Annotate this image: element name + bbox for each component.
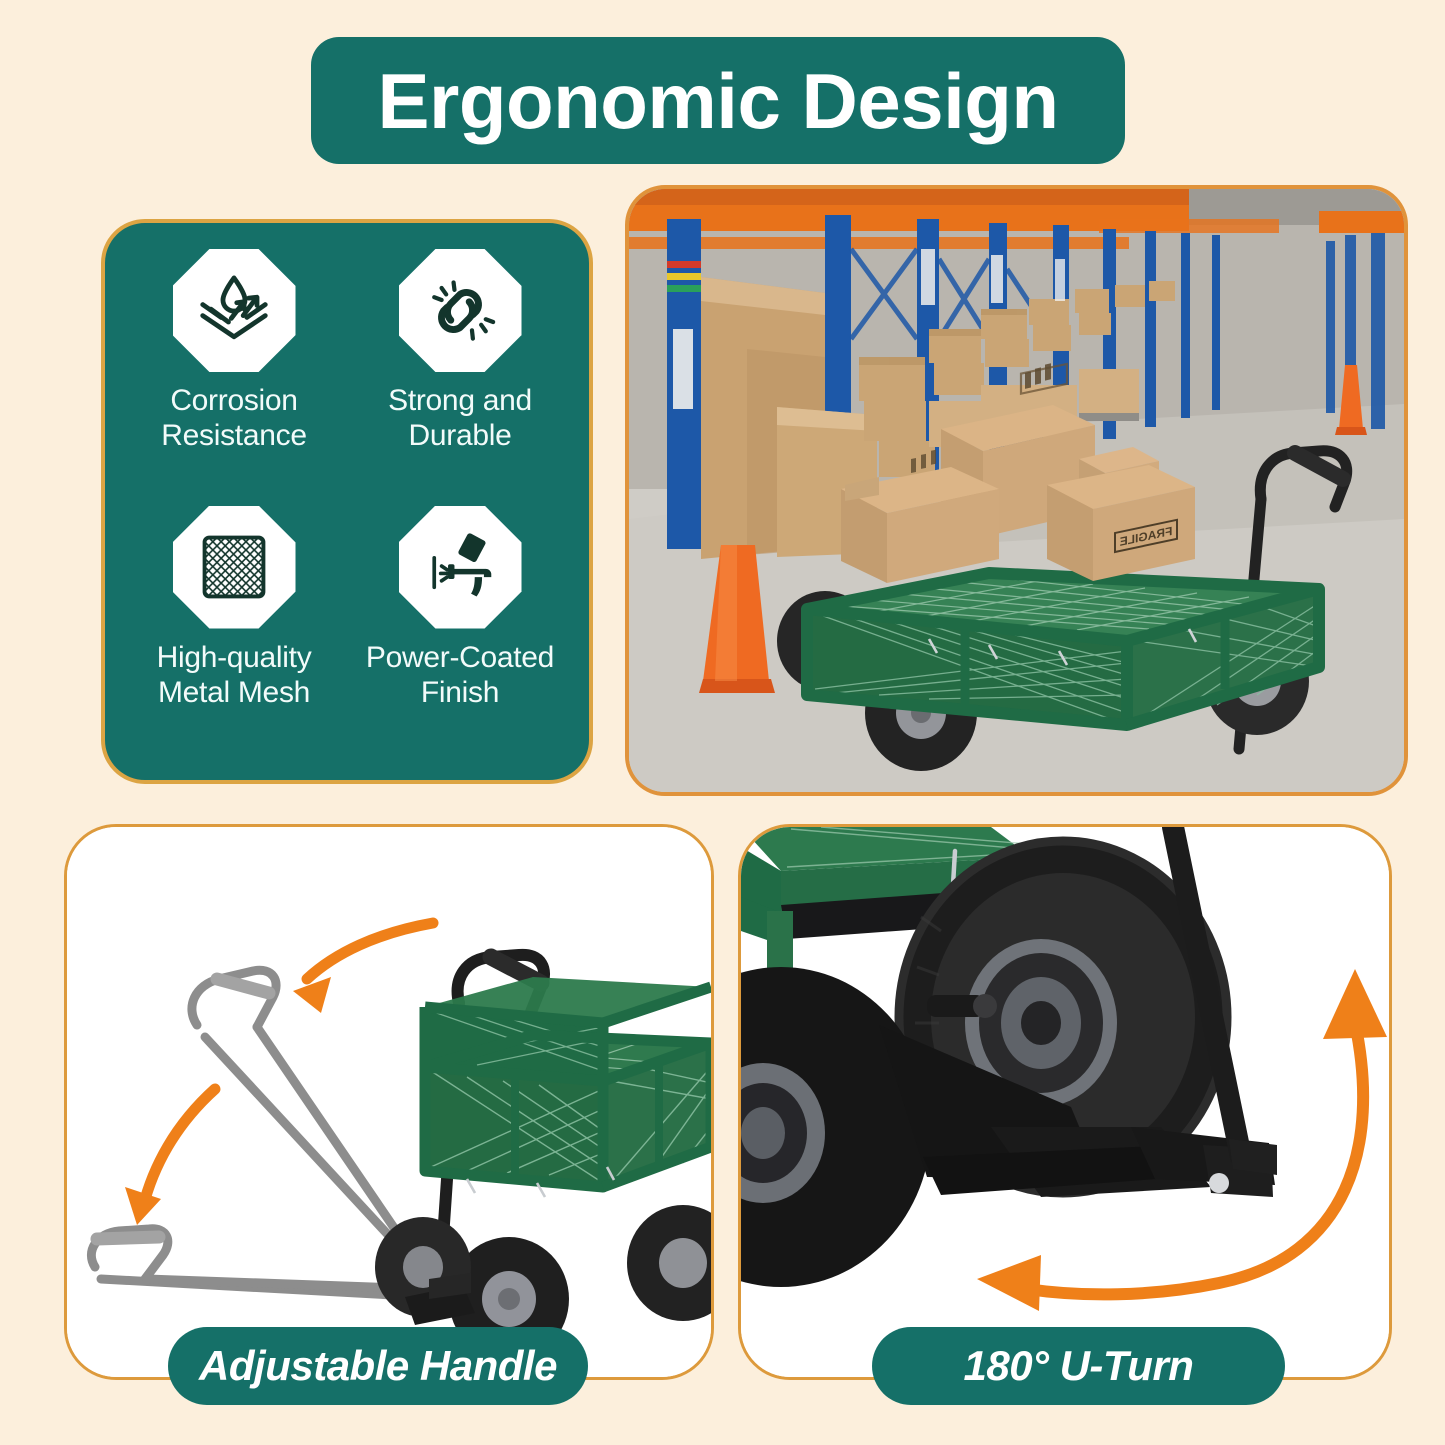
water-droplet-repellent-icon [173,249,296,372]
adjustable-handle-illustration [67,827,711,1377]
adjustable-handle-caption: Adjustable Handle [168,1327,588,1405]
page-title-banner: Ergonomic Design [311,37,1125,164]
adjustable-handle-caption-text: Adjustable Handle [199,1342,557,1390]
feature-label-line1: Power-Coated [366,641,554,674]
u-turn-caption: 180° U-Turn [872,1327,1285,1405]
features-panel: Corrosion Resistance [101,219,593,784]
feature-label-line2: Metal Mesh [158,676,310,709]
page-title: Ergonomic Design [377,62,1058,140]
spray-gun-icon [399,506,522,629]
adjustable-handle-panel [64,824,714,1380]
feature-label-power-coated-finish: Power-Coated Finish [366,640,554,711]
u-turn-illustration [741,827,1389,1377]
infographic-page: Ergonomic Design [0,0,1445,1445]
u-turn-panel [738,824,1392,1380]
feature-label-line1: High-quality [157,641,312,674]
feature-label-line2: Durable [409,419,512,452]
feature-item-power-coated-finish: Power-Coated Finish [347,506,573,763]
main-product-photo: FRAGILE [625,185,1408,796]
feature-item-strong-durable: Strong and Durable [347,249,573,506]
feature-label-line1: Strong and [388,384,532,417]
feature-label-metal-mesh: High-quality Metal Mesh [157,640,312,711]
feature-label-line1: Corrosion [170,384,297,417]
feature-item-metal-mesh: High-quality Metal Mesh [121,506,347,763]
feature-label-line2: Resistance [161,419,306,452]
u-turn-caption-text: 180° U-Turn [964,1342,1194,1390]
feature-label-strong-durable: Strong and Durable [388,383,532,454]
feature-label-corrosion-resistance: Corrosion Resistance [161,383,306,454]
metal-mesh-icon [173,506,296,629]
chain-link-icon [399,249,522,372]
feature-item-corrosion-resistance: Corrosion Resistance [121,249,347,506]
features-grid: Corrosion Resistance [105,223,589,780]
feature-label-line2: Finish [421,676,499,709]
warehouse-cart-illustration: FRAGILE [629,189,1404,792]
